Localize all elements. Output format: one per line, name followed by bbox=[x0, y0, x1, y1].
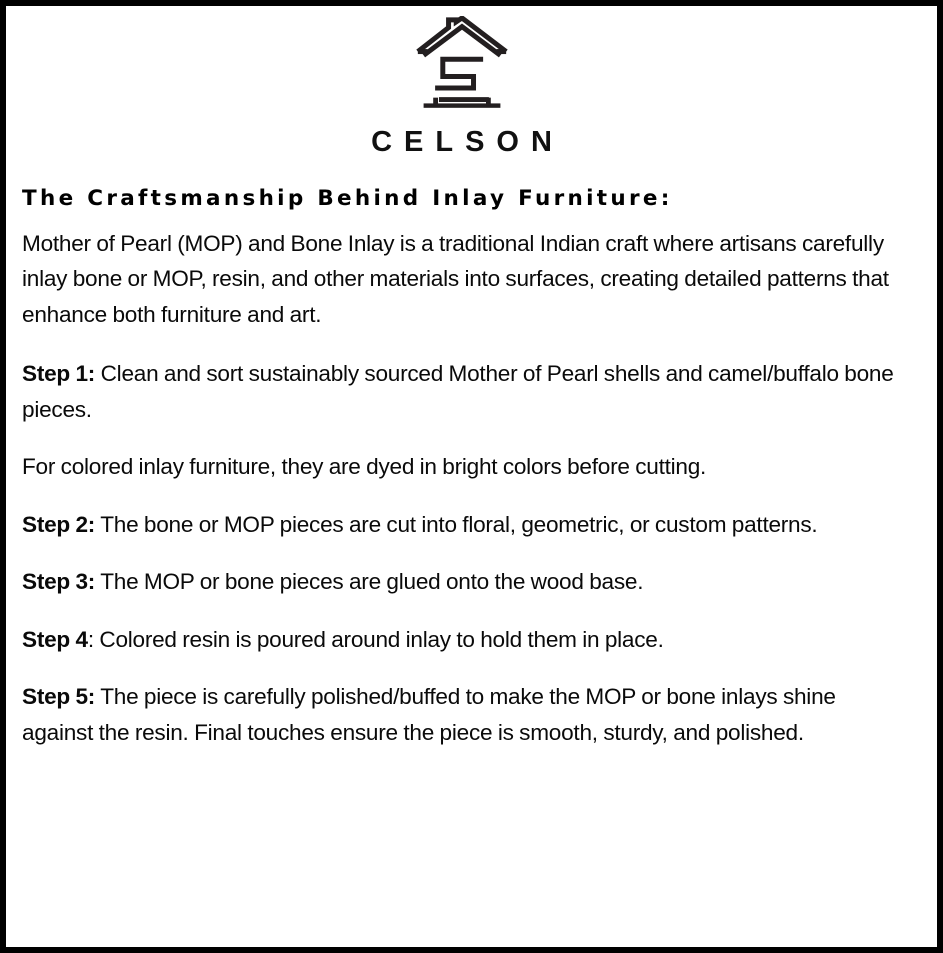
poster-card: CELSON The Craftsmanship Behind Inlay Fu… bbox=[0, 0, 943, 953]
brand-name: CELSON bbox=[16, 128, 907, 157]
note-text: For colored inlay furniture, they are dy… bbox=[22, 454, 706, 479]
page-title: The Craftsmanship Behind Inlay Furniture… bbox=[22, 186, 907, 212]
step-1-text: Clean and sort sustainably sourced Mothe… bbox=[22, 361, 894, 422]
step-4-text: Colored resin is poured around inlay to … bbox=[94, 627, 664, 652]
step-5-paragraph: Step 5: The piece is carefully polished/… bbox=[22, 679, 907, 750]
step-3-text: The MOP or bone pieces are glued onto th… bbox=[95, 569, 643, 594]
intro-paragraph: Mother of Pearl (MOP) and Bone Inlay is … bbox=[22, 226, 907, 333]
step-1-paragraph: Step 1: Clean and sort sustainably sourc… bbox=[22, 356, 907, 427]
poster-inner: CELSON The Craftsmanship Behind Inlay Fu… bbox=[6, 6, 937, 947]
step-4-label: Step 4 bbox=[22, 627, 88, 652]
note-paragraph: For colored inlay furniture, they are dy… bbox=[22, 449, 907, 485]
step-3-label: Step 3: bbox=[22, 569, 95, 594]
brand-block: CELSON bbox=[16, 12, 907, 157]
step-5-label: Step 5: bbox=[22, 684, 95, 709]
house-monogram-icon bbox=[414, 16, 510, 114]
body-copy: Mother of Pearl (MOP) and Bone Inlay is … bbox=[22, 212, 907, 751]
step-4-paragraph: Step 4: Colored resin is poured around i… bbox=[22, 622, 907, 658]
step-2-label: Step 2: bbox=[22, 512, 95, 537]
step-5-text: The piece is carefully polished/buffed t… bbox=[22, 684, 836, 745]
step-1-label: Step 1: bbox=[22, 361, 95, 386]
step-2-text: The bone or MOP pieces are cut into flor… bbox=[95, 512, 817, 537]
step-2-paragraph: Step 2: The bone or MOP pieces are cut i… bbox=[22, 507, 907, 543]
step-3-paragraph: Step 3: The MOP or bone pieces are glued… bbox=[22, 564, 907, 600]
